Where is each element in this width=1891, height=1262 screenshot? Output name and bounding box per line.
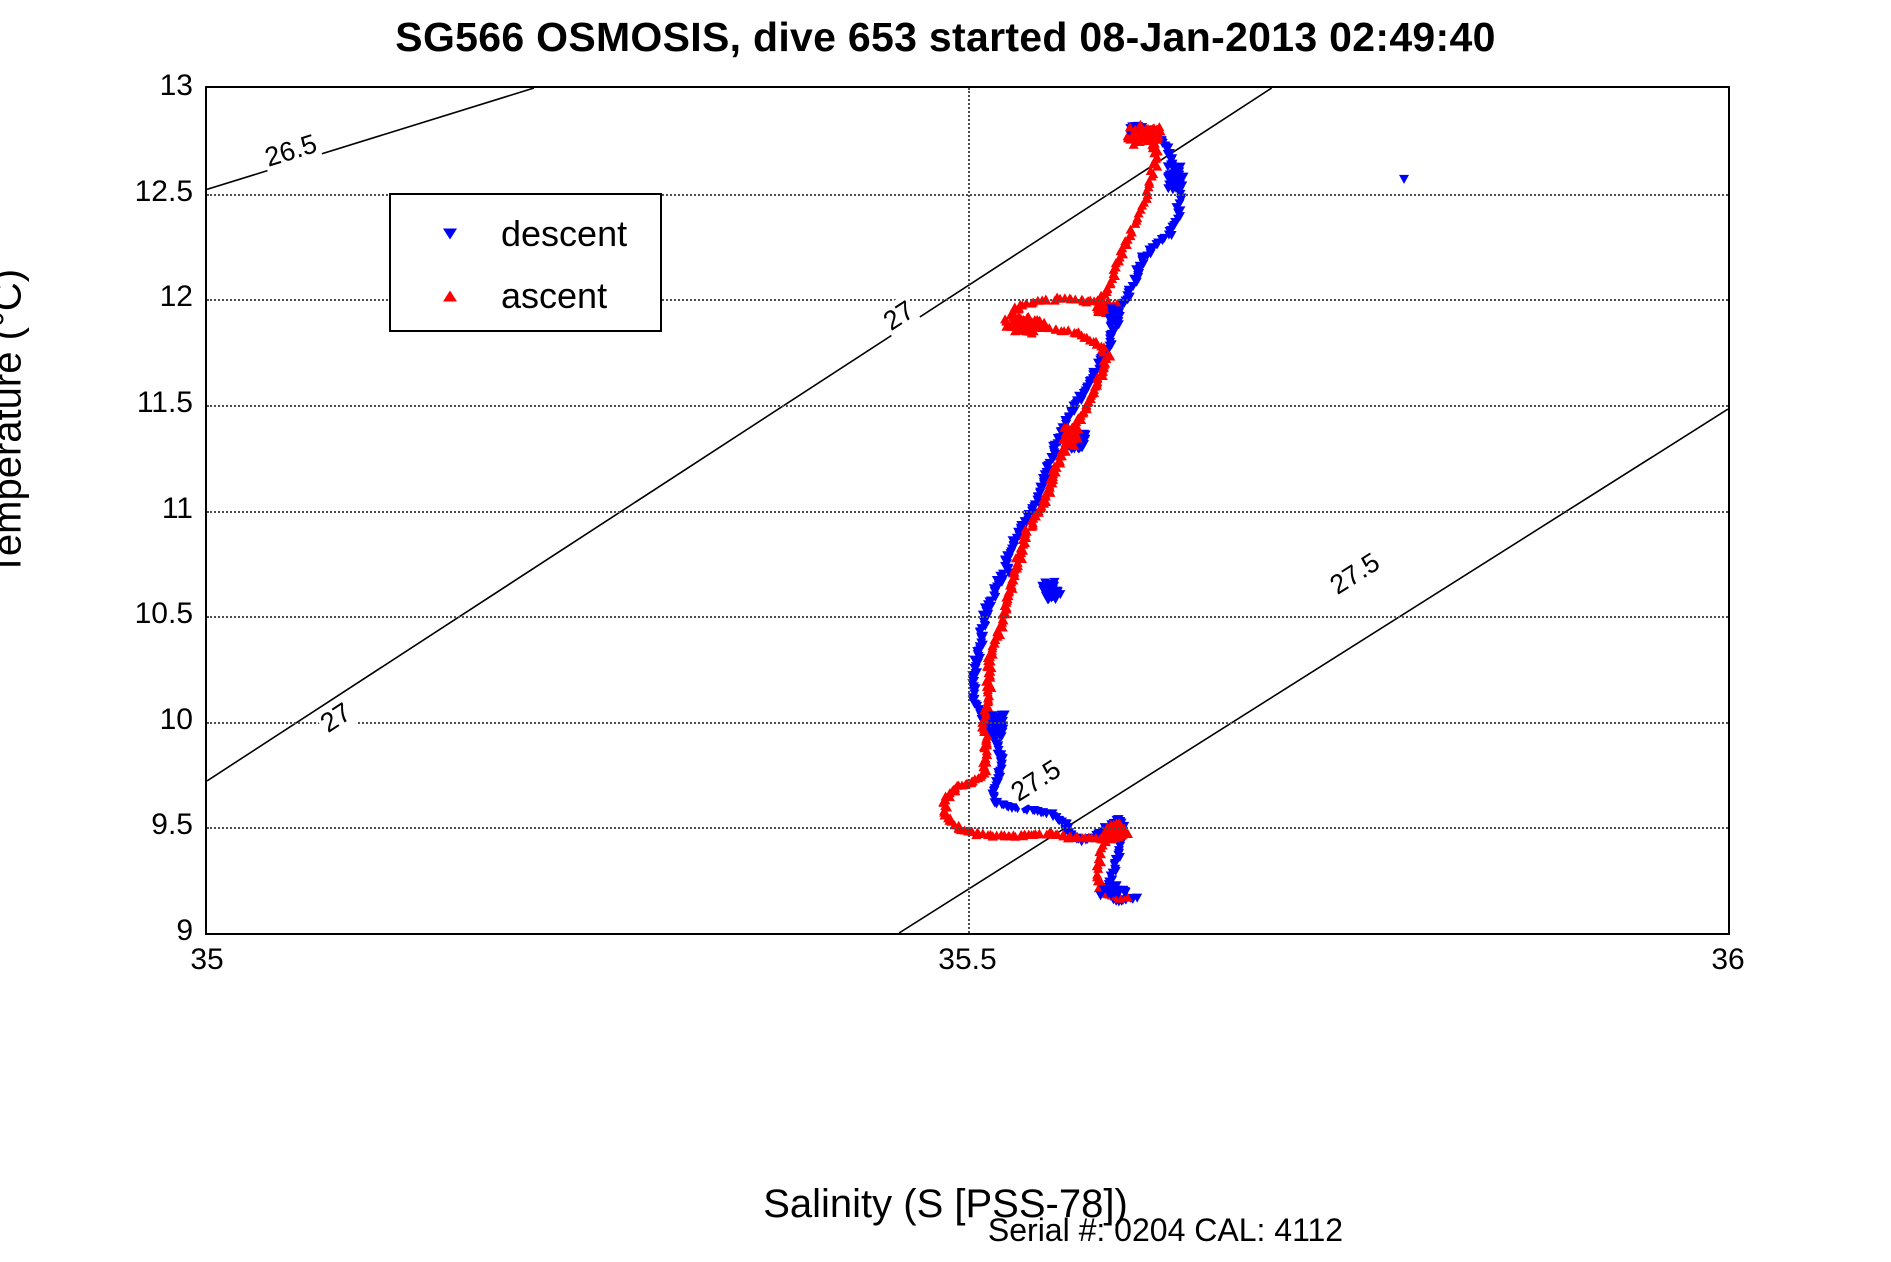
- data-point-marker: [1133, 122, 1143, 131]
- data-point-marker: [981, 708, 991, 717]
- data-point-marker: [1071, 434, 1081, 443]
- data-point-marker: [1053, 457, 1063, 466]
- data-point-marker: [1026, 324, 1036, 333]
- data-point-marker: [1107, 303, 1117, 312]
- data-point-marker: [1126, 124, 1136, 133]
- data-point-marker: [1067, 830, 1077, 839]
- data-point-marker: [1004, 588, 1014, 597]
- data-point-marker: [1127, 228, 1137, 237]
- data-point-marker: [971, 662, 981, 671]
- isopycnal-line: [207, 88, 534, 189]
- data-point-marker: [1133, 127, 1143, 136]
- data-point-marker: [1041, 492, 1051, 501]
- data-point-marker: [1045, 475, 1055, 484]
- data-point-marker: [1046, 593, 1056, 602]
- data-point-marker: [1064, 828, 1074, 837]
- legend-box[interactable]: descent ascent: [389, 193, 662, 332]
- data-point-marker: [1051, 595, 1061, 604]
- data-point-marker: [1110, 889, 1120, 898]
- data-point-marker: [1111, 897, 1121, 906]
- data-point-marker: [1114, 256, 1124, 265]
- data-point-marker: [1045, 589, 1055, 598]
- data-point-marker: [1118, 886, 1128, 895]
- data-point-marker: [1112, 308, 1122, 317]
- data-point-marker: [1105, 335, 1115, 344]
- data-point-marker: [974, 652, 984, 661]
- data-point-marker: [1042, 830, 1052, 839]
- data-point-marker: [1096, 849, 1106, 858]
- data-point-marker: [1167, 231, 1177, 240]
- data-point-marker: [1044, 484, 1054, 493]
- data-point-marker: [1110, 312, 1120, 321]
- data-point-marker: [969, 677, 979, 686]
- data-point-marker: [1140, 130, 1150, 139]
- data-point-marker: [1039, 480, 1049, 489]
- data-point-marker: [1018, 318, 1028, 327]
- data-point-marker: [1105, 331, 1115, 340]
- data-point-marker: [975, 642, 985, 651]
- data-point-marker: [1111, 855, 1121, 864]
- data-point-marker: [1073, 436, 1083, 445]
- data-point-marker: [997, 765, 1007, 774]
- data-point-marker: [1135, 131, 1145, 140]
- data-point-marker: [949, 785, 959, 794]
- data-point-marker: [1072, 425, 1082, 434]
- data-point-marker: [1026, 320, 1036, 329]
- data-point-marker: [1044, 480, 1054, 489]
- data-point-marker: [1144, 182, 1154, 191]
- data-point-marker: [1091, 831, 1101, 840]
- data-point-marker: [1100, 359, 1110, 368]
- data-point-marker: [1134, 136, 1144, 145]
- data-point-marker: [1101, 833, 1111, 842]
- data-point-marker: [1022, 313, 1032, 322]
- data-point-marker: [1101, 354, 1111, 363]
- data-point-marker: [977, 635, 987, 644]
- data-point-marker: [1041, 592, 1051, 601]
- data-point-marker: [1048, 589, 1058, 598]
- data-point-marker: [1071, 833, 1081, 842]
- data-point-marker: [1164, 172, 1174, 181]
- data-point-marker: [1097, 880, 1107, 889]
- data-point-marker: [1076, 396, 1086, 405]
- data-point-marker: [981, 734, 991, 743]
- data-point-marker: [997, 760, 1007, 769]
- data-point-marker: [1027, 328, 1037, 337]
- data-point-marker: [993, 632, 1003, 641]
- data-point-marker: [1097, 345, 1107, 354]
- data-point-marker: [1096, 360, 1106, 369]
- data-point-marker: [1102, 306, 1112, 315]
- data-point-marker: [1111, 304, 1121, 313]
- data-point-marker: [993, 626, 1003, 635]
- data-point-marker: [1146, 166, 1156, 175]
- data-point-marker: [1031, 512, 1041, 521]
- data-point-marker: [983, 600, 993, 609]
- triangle-down-icon: [443, 229, 457, 240]
- data-point-marker: [1137, 133, 1147, 142]
- data-point-marker: [1069, 437, 1079, 446]
- data-point-marker: [1055, 438, 1065, 447]
- data-point-marker: [1066, 444, 1076, 453]
- data-point-marker: [1082, 384, 1092, 393]
- data-point-marker: [978, 829, 988, 838]
- data-point-marker: [1153, 239, 1163, 248]
- data-point-marker: [942, 803, 952, 812]
- data-point-marker: [1163, 173, 1173, 182]
- data-point-marker: [1141, 132, 1151, 141]
- data-point-marker: [1167, 162, 1177, 171]
- data-point-marker: [1022, 806, 1032, 815]
- data-point-marker: [1145, 132, 1155, 141]
- data-point-marker: [1125, 231, 1135, 240]
- data-point-marker: [1079, 440, 1089, 449]
- data-point-marker: [994, 771, 1004, 780]
- figure-canvas: SG566 OSMOSIS, dive 653 started 08-Jan-2…: [0, 0, 1891, 1262]
- data-point-marker: [1157, 138, 1167, 147]
- data-point-marker: [1010, 568, 1020, 577]
- data-point-marker: [1036, 809, 1046, 818]
- data-point-marker: [1061, 418, 1071, 427]
- data-point-marker: [996, 762, 1006, 771]
- data-point-marker: [1152, 240, 1162, 249]
- data-point-marker: [1013, 324, 1023, 333]
- data-point-marker: [1103, 889, 1113, 898]
- data-point-marker: [1106, 885, 1116, 894]
- data-point-marker: [1166, 156, 1176, 165]
- data-point-marker: [997, 800, 1007, 809]
- data-point-marker: [1156, 126, 1166, 135]
- data-point-marker: [1016, 526, 1026, 535]
- data-point-marker: [1143, 131, 1153, 140]
- data-point-marker: [996, 757, 1006, 766]
- data-point-marker: [1096, 891, 1106, 900]
- data-point-marker: [1106, 872, 1116, 881]
- data-point-marker: [1010, 326, 1020, 335]
- data-point-marker: [978, 762, 988, 771]
- data-point-marker: [987, 646, 997, 655]
- data-point-marker: [1104, 306, 1114, 315]
- data-point-marker: [1139, 128, 1149, 137]
- data-point-marker: [1138, 131, 1148, 140]
- data-point-marker: [939, 798, 949, 807]
- data-point-marker: [1048, 472, 1058, 481]
- data-point-marker: [1014, 316, 1024, 325]
- data-point-marker: [1137, 130, 1147, 139]
- y-axis-tick-label: 10.5: [73, 597, 193, 631]
- data-point-marker: [1173, 215, 1183, 224]
- data-point-marker: [1126, 129, 1136, 138]
- data-point-marker: [1013, 325, 1023, 334]
- data-point-marker: [1069, 407, 1079, 416]
- data-point-marker: [1171, 176, 1181, 185]
- data-point-marker: [1123, 131, 1133, 140]
- data-point-marker: [1112, 315, 1122, 324]
- data-point-marker: [1033, 492, 1043, 501]
- data-point-marker: [1047, 587, 1057, 596]
- data-point-marker: [1093, 876, 1103, 885]
- data-point-marker: [969, 687, 979, 696]
- data-point-marker: [1115, 828, 1125, 837]
- data-point-marker: [1069, 424, 1079, 433]
- data-point-marker: [983, 687, 993, 696]
- data-point-marker: [1128, 132, 1138, 141]
- data-point-marker: [990, 639, 1000, 648]
- data-point-marker: [1116, 830, 1126, 839]
- data-point-marker: [1091, 337, 1101, 346]
- data-point-marker: [1152, 152, 1162, 161]
- data-point-marker: [1146, 136, 1156, 145]
- data-point-marker: [1135, 136, 1145, 145]
- data-point-marker: [1114, 308, 1124, 317]
- data-point-marker: [1038, 808, 1048, 817]
- data-point-marker: [1153, 135, 1163, 144]
- data-point-marker: [1020, 830, 1030, 839]
- data-point-marker: [1078, 833, 1088, 842]
- data-point-marker: [971, 700, 981, 709]
- data-point-marker: [1071, 329, 1081, 338]
- data-point-marker: [1142, 128, 1152, 137]
- data-point-marker: [1020, 517, 1030, 526]
- data-point-marker: [994, 723, 1004, 732]
- data-point-marker: [1157, 136, 1167, 145]
- data-point-marker: [1131, 135, 1141, 144]
- data-point-marker: [1146, 125, 1156, 134]
- data-point-marker: [1110, 885, 1120, 894]
- data-point-marker: [1125, 894, 1135, 903]
- data-point-marker: [1008, 308, 1018, 317]
- data-point-marker: [1071, 425, 1081, 434]
- data-point-marker: [1111, 307, 1121, 316]
- data-point-marker: [1007, 581, 1017, 590]
- data-point-marker: [1134, 132, 1144, 141]
- data-point-marker: [1109, 313, 1119, 322]
- data-point-marker: [1108, 310, 1118, 319]
- data-point-marker: [1104, 883, 1114, 892]
- data-point-marker: [1001, 593, 1011, 602]
- data-point-marker: [1071, 438, 1081, 447]
- data-point-marker: [1020, 322, 1030, 331]
- data-point-marker: [979, 706, 989, 715]
- data-point-marker: [1116, 303, 1126, 312]
- data-point-marker: [983, 703, 993, 712]
- data-point-marker: [952, 781, 962, 790]
- data-point-marker: [1174, 170, 1184, 179]
- data-point-marker: [1013, 313, 1023, 322]
- data-point-marker: [1007, 574, 1017, 583]
- data-point-marker: [1032, 496, 1042, 505]
- data-point-marker: [998, 570, 1008, 579]
- data-point-marker: [981, 677, 991, 686]
- y-axis-tick-label: 13: [73, 69, 193, 103]
- data-point-marker: [1125, 122, 1135, 131]
- data-point-marker: [983, 668, 993, 677]
- data-point-marker: [1116, 246, 1126, 255]
- data-point-marker: [1040, 321, 1050, 330]
- y-axis-tick-label: 11.5: [73, 386, 193, 420]
- data-point-marker: [1044, 586, 1054, 595]
- data-point-marker: [1129, 275, 1139, 284]
- data-point-marker: [1004, 554, 1014, 563]
- data-point-marker: [1095, 303, 1105, 312]
- data-point-marker: [1008, 319, 1018, 328]
- data-point-marker: [1035, 316, 1045, 325]
- data-point-marker: [1169, 179, 1179, 188]
- data-point-marker: [1107, 833, 1117, 842]
- data-point-marker: [1030, 315, 1040, 324]
- data-point-marker: [1034, 829, 1044, 838]
- data-point-marker: [1117, 830, 1127, 839]
- data-point-marker: [1061, 447, 1071, 456]
- data-point-marker: [1116, 302, 1126, 311]
- data-point-marker: [985, 667, 995, 676]
- data-point-marker: [1000, 314, 1010, 323]
- data-point-marker: [1107, 308, 1117, 317]
- data-point-marker: [1138, 129, 1148, 138]
- data-point-marker: [1112, 829, 1122, 838]
- data-point-marker: [980, 603, 990, 612]
- data-point-marker: [991, 713, 1001, 722]
- data-point-marker: [1103, 832, 1113, 841]
- data-point-marker: [1128, 129, 1138, 138]
- data-point-marker: [1070, 833, 1080, 842]
- data-point-marker: [1048, 830, 1058, 839]
- data-point-marker: [977, 712, 987, 721]
- data-point-marker: [1099, 301, 1109, 310]
- data-point-marker: [1097, 886, 1107, 895]
- data-point-marker: [1137, 128, 1147, 137]
- data-point-marker: [1039, 478, 1049, 487]
- data-point-marker: [997, 732, 1007, 741]
- data-point-marker: [1107, 319, 1117, 328]
- data-point-marker: [969, 684, 979, 693]
- data-point-marker: [1137, 127, 1147, 136]
- legend-item-descent[interactable]: descent: [391, 209, 660, 259]
- data-point-marker: [1107, 884, 1117, 893]
- y-axis-label: Temperature (°C): [0, 0, 31, 863]
- data-point-marker: [1051, 325, 1061, 334]
- data-point-marker: [991, 777, 1001, 786]
- data-point-marker: [950, 786, 960, 795]
- data-point-marker: [1047, 809, 1057, 818]
- data-point-marker: [1017, 317, 1027, 326]
- data-point-marker: [1016, 321, 1026, 330]
- data-point-marker: [940, 801, 950, 810]
- data-point-marker: [986, 728, 996, 737]
- data-point-marker: [1063, 436, 1073, 445]
- data-point-marker: [1053, 439, 1063, 448]
- data-point-marker: [1104, 878, 1114, 887]
- data-point-marker: [983, 662, 993, 671]
- data-point-marker: [1141, 124, 1151, 133]
- triangle-up-icon: [443, 291, 457, 302]
- data-point-marker: [1088, 368, 1098, 377]
- data-point-marker: [1147, 172, 1157, 181]
- data-point-marker: [1097, 367, 1107, 376]
- data-point-marker: [1079, 333, 1089, 342]
- data-point-marker: [1014, 323, 1024, 332]
- data-point-marker: [1114, 307, 1124, 316]
- data-point-marker: [1130, 219, 1140, 228]
- data-point-marker: [990, 798, 1000, 807]
- data-point-marker: [1132, 129, 1142, 138]
- data-point-marker: [1144, 130, 1154, 139]
- data-point-marker: [1064, 426, 1074, 435]
- data-point-marker: [1020, 321, 1030, 330]
- data-point-marker: [1108, 886, 1118, 895]
- data-point-marker: [1139, 130, 1149, 139]
- data-point-marker: [1067, 426, 1077, 435]
- data-point-marker: [1067, 426, 1077, 435]
- data-point-marker: [1109, 265, 1119, 274]
- data-point-marker: [982, 732, 992, 741]
- data-point-marker: [1058, 435, 1068, 444]
- data-point-marker: [1015, 319, 1025, 328]
- data-point-marker: [1034, 829, 1044, 838]
- data-point-marker: [1049, 578, 1059, 587]
- data-point-marker: [1137, 253, 1147, 262]
- data-point-marker: [1130, 130, 1140, 139]
- data-point-marker: [1111, 897, 1121, 906]
- data-point-marker: [1116, 830, 1126, 839]
- data-point-marker: [1052, 829, 1062, 838]
- data-point-marker: [1139, 126, 1149, 135]
- data-point-marker: [988, 831, 998, 840]
- data-point-marker: [1016, 524, 1026, 533]
- data-point-marker: [1033, 320, 1043, 329]
- data-point-marker: [1098, 364, 1108, 373]
- legend-item-ascent[interactable]: ascent: [391, 271, 660, 321]
- data-point-marker: [1165, 149, 1175, 158]
- data-point-marker: [1131, 128, 1141, 137]
- data-point-marker: [1063, 430, 1073, 439]
- data-point-marker: [1092, 379, 1102, 388]
- data-point-marker: [1049, 446, 1059, 455]
- data-point-marker: [1010, 305, 1020, 314]
- data-point-marker: [1079, 389, 1089, 398]
- data-point-marker: [1013, 305, 1023, 314]
- data-point-marker: [1035, 483, 1045, 492]
- data-point-marker: [1132, 132, 1142, 141]
- data-point-marker: [980, 621, 990, 630]
- data-point-marker: [957, 781, 967, 790]
- data-point-marker: [1000, 556, 1010, 565]
- data-point-marker: [1143, 136, 1153, 145]
- data-point-marker: [1022, 322, 1032, 331]
- data-point-marker: [1107, 890, 1117, 899]
- data-point-marker: [1064, 433, 1074, 442]
- data-point-marker: [1070, 440, 1080, 449]
- data-point-marker: [1136, 126, 1146, 135]
- data-point-marker: [1043, 487, 1053, 496]
- data-point-marker: [1104, 889, 1114, 898]
- data-point-marker: [1106, 330, 1116, 339]
- data-point-marker: [1090, 370, 1100, 379]
- data-point-marker: [1065, 430, 1075, 439]
- data-point-marker: [1112, 891, 1122, 900]
- data-point-marker: [1115, 312, 1125, 321]
- data-point-marker: [1055, 458, 1065, 467]
- data-point-marker: [1109, 888, 1119, 897]
- data-point-marker: [1065, 429, 1075, 438]
- data-point-marker: [1076, 435, 1086, 444]
- data-point-marker: [1161, 143, 1171, 152]
- data-point-marker: [1134, 131, 1144, 140]
- data-point-marker: [1113, 312, 1123, 321]
- data-point-marker: [1109, 888, 1119, 897]
- data-point-marker: [1140, 133, 1150, 142]
- data-point-marker: [979, 769, 989, 778]
